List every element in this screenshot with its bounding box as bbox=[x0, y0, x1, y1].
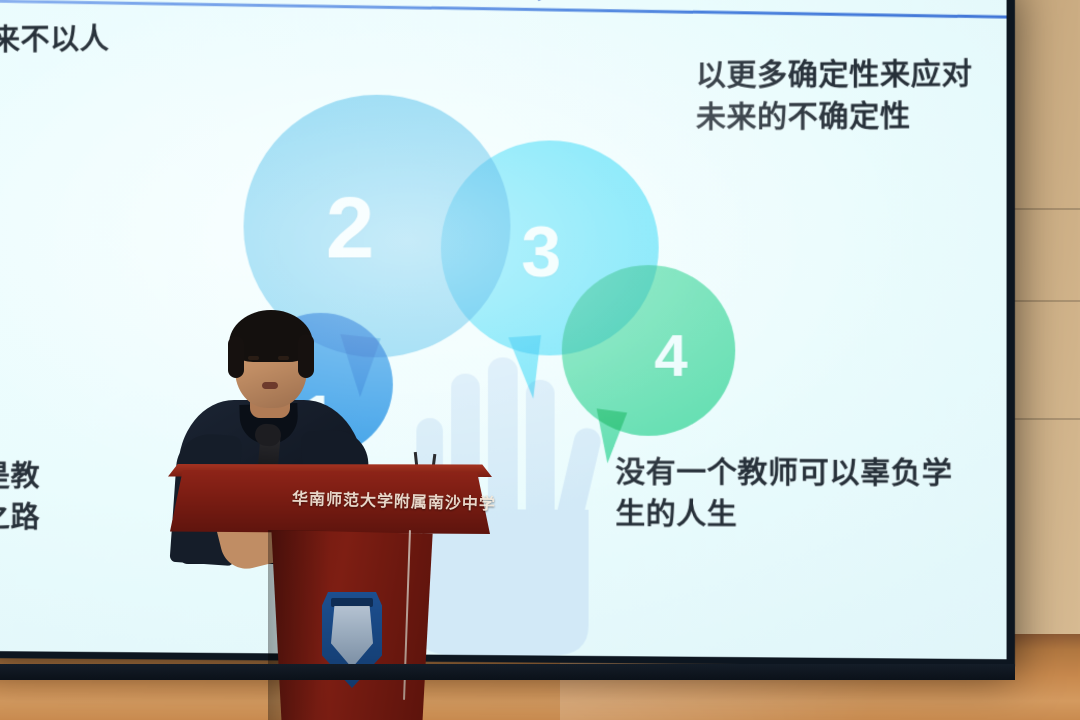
presentation-slide: （2020-2035年） 2 bbox=[0, 0, 1007, 659]
bubble-number-4: 4 bbox=[654, 327, 687, 386]
speaker-hair-right bbox=[298, 334, 314, 378]
speaker-eye-right bbox=[278, 356, 289, 360]
speaker-eye-left bbox=[248, 356, 259, 360]
slide-text-top-left: 展从来不以人转移 bbox=[0, 19, 264, 104]
screen-base-bar bbox=[0, 664, 1015, 680]
bubble-number-2: 2 bbox=[326, 185, 375, 272]
bubble-number-3: 3 bbox=[521, 217, 561, 288]
bubble-4[interactable]: 4 bbox=[562, 265, 735, 436]
slide-text-bottom-right: 没有一个教师可以辜负学生的人生 bbox=[615, 453, 958, 538]
projection-screen: （2020-2035年） 2 bbox=[0, 0, 1007, 659]
podium-column-shadow bbox=[268, 530, 330, 720]
slide-title: （2020-2035年） bbox=[510, 0, 945, 6]
speaker-mouth bbox=[262, 382, 278, 389]
school-crest-header bbox=[331, 598, 373, 607]
speaker-hair-left bbox=[228, 336, 244, 378]
slide-text-top-right: 以更多确定性来应对未来的不确定性 bbox=[696, 54, 1007, 140]
podium: 华南师范大学附属南沙中学 bbox=[170, 470, 490, 720]
projection-screen-frame: （2020-2035年） 2 bbox=[0, 0, 1015, 667]
screenshot-stage: （2020-2035年） 2 bbox=[0, 0, 1080, 720]
